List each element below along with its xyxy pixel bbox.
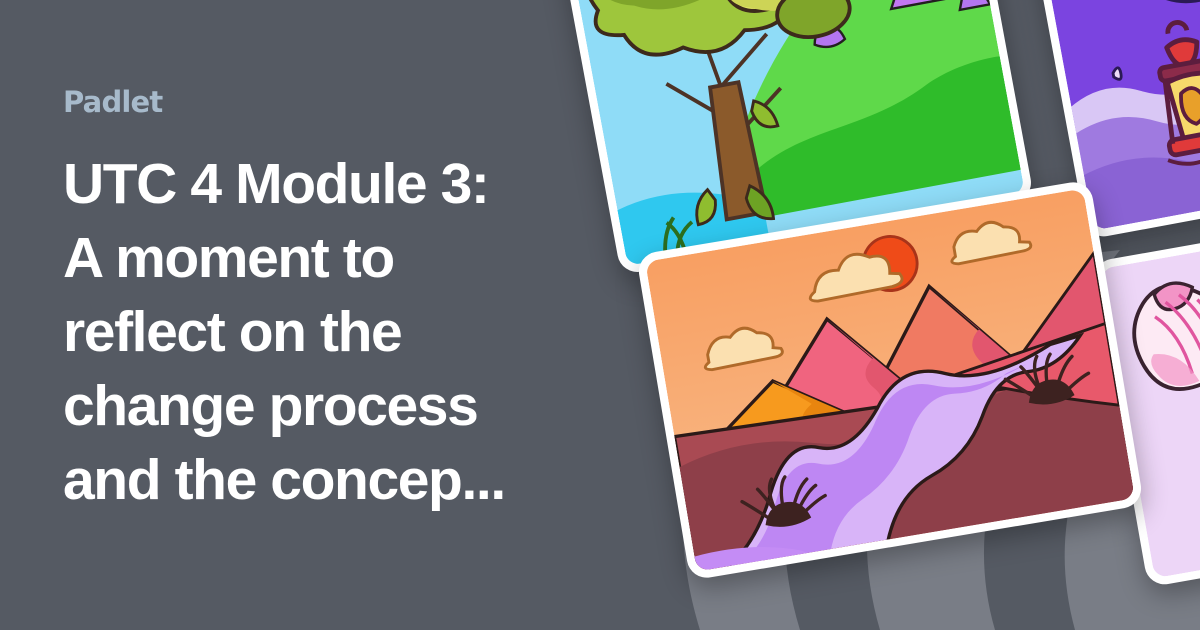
padlet-logo[interactable]: Padlet [63, 88, 593, 117]
page-title: UTC 4 Module 3: A moment to reflect on t… [63, 147, 593, 517]
share-card-canvas: Padlet UTC 4 Module 3: A moment to refle… [0, 0, 1200, 630]
share-card-text-column: Padlet UTC 4 Module 3: A moment to refle… [63, 88, 593, 517]
card-image-desert [645, 189, 1135, 572]
